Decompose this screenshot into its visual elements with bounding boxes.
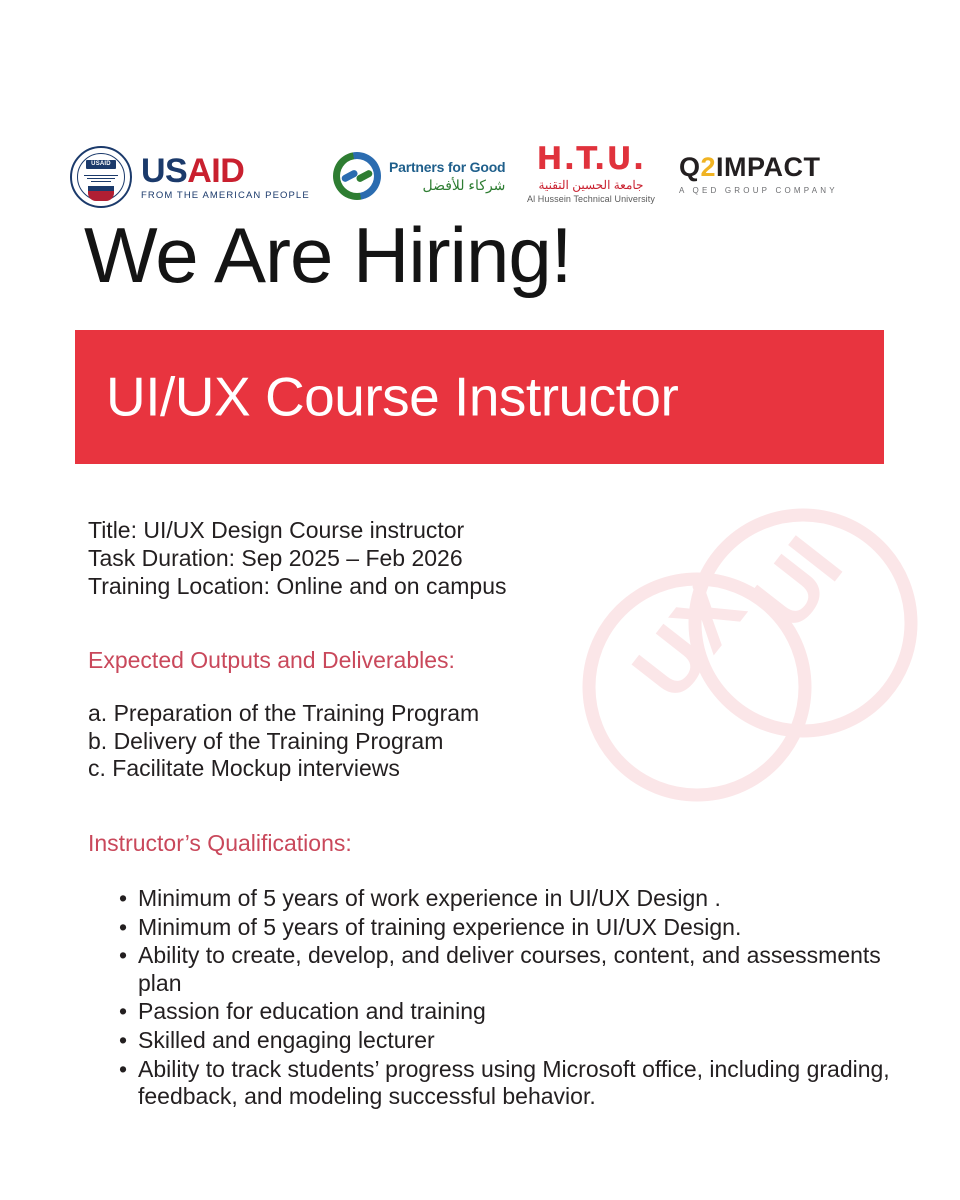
- job-meta-title: Title: UI/UX Design Course instructor: [88, 516, 507, 544]
- job-meta-block: Title: UI/UX Design Course instructor Ta…: [88, 516, 507, 600]
- list-item: c. Facilitate Mockup interviews: [88, 755, 479, 783]
- deliverables-list: a. Preparation of the Training Program b…: [88, 700, 479, 783]
- list-item: Minimum of 5 years of training experienc…: [118, 914, 908, 942]
- deliverables-heading: Expected Outputs and Deliverables:: [88, 647, 455, 675]
- list-item: b. Delivery of the Training Program: [88, 728, 479, 756]
- job-meta-duration: Task Duration: Sep 2025 – Feb 2026: [88, 544, 507, 572]
- posting-body: Title: UI/UX Design Course instructor Ta…: [0, 0, 960, 1200]
- list-item: Ability to track students’ progress usin…: [118, 1056, 908, 1111]
- list-item: Minimum of 5 years of work experience in…: [118, 885, 908, 913]
- list-item: a. Preparation of the Training Program: [88, 700, 479, 728]
- job-meta-location: Training Location: Online and on campus: [88, 572, 507, 600]
- list-item: Passion for education and training: [118, 998, 908, 1026]
- qualifications-list: Minimum of 5 years of work experience in…: [118, 885, 908, 1112]
- list-item: Ability to create, develop, and deliver …: [118, 942, 908, 997]
- qualifications-heading: Instructor’s Qualifications:: [88, 830, 352, 858]
- list-item: Skilled and engaging lecturer: [118, 1027, 908, 1055]
